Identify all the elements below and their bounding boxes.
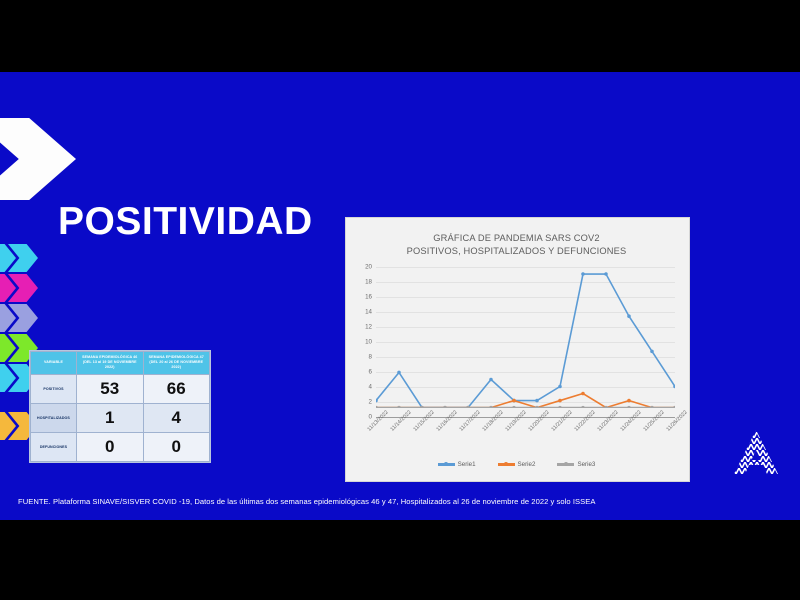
chart-data-point xyxy=(627,399,631,403)
chart-y-tick-label: 14 xyxy=(354,308,372,315)
chart-title-line2: POSITIVOS, HOSPITALIZADOS Y DEFUNCIONES xyxy=(354,245,679,258)
chart-data-point xyxy=(489,406,493,408)
table-body: POSITIVOS5366HOSPITALIZADOS14DEFUNCIONES… xyxy=(31,374,210,461)
large-white-chevron-decor xyxy=(0,118,76,200)
chart-legend-item: Serie1 xyxy=(438,461,476,468)
chart-data-point xyxy=(581,406,585,408)
footer-source-text: FUENTE. Plataforma SINAVE/SISVER COVID -… xyxy=(0,497,595,506)
chevron-decor xyxy=(0,274,44,302)
chevron-decor xyxy=(0,304,44,332)
chart-legend-label: Serie3 xyxy=(577,461,595,468)
chart-legend-swatch xyxy=(498,463,515,465)
chart-y-tick-label: 2 xyxy=(354,398,372,405)
chart-y-tick-label: 12 xyxy=(354,323,372,330)
chart-data-point xyxy=(650,350,654,354)
table-header-week46: SEMANA EPIDEMIOLÓGICA 46 (DEL 13 al 19 D… xyxy=(77,352,144,375)
chart-legend-item: Serie3 xyxy=(557,461,595,468)
chart-data-point xyxy=(650,406,654,408)
chart-data-point xyxy=(558,406,562,408)
chart-legend-label: Serie1 xyxy=(458,461,476,468)
chart-x-axis-labels: 11/13/202211/14/202211/15/202211/16/2022… xyxy=(376,417,675,457)
table-cell-week47: 66 xyxy=(143,374,210,403)
page-title: POSITIVIDAD xyxy=(58,200,313,244)
chart-legend-item: Serie2 xyxy=(498,461,536,468)
chart-data-point xyxy=(489,378,493,382)
chart-data-point xyxy=(535,399,539,403)
chart-legend: Serie1Serie2Serie3 xyxy=(354,461,679,468)
chart-data-point xyxy=(535,406,539,408)
chart-y-tick-label: 18 xyxy=(354,278,372,285)
table-row: POSITIVOS5366 xyxy=(31,374,210,403)
chart-data-point xyxy=(376,406,378,408)
summary-table: VARIABLE SEMANA EPIDEMIOLÓGICA 46 (DEL 1… xyxy=(30,351,210,462)
table-row: HOSPITALIZADOS14 xyxy=(31,403,210,432)
chart-card: GRÁFICA DE PANDEMIA SARS COV2 POSITIVOS,… xyxy=(345,217,690,482)
chart-y-tick-label: 6 xyxy=(354,368,372,375)
chart-data-point xyxy=(558,385,562,389)
table-row-label: DEFUNCIONES xyxy=(31,432,77,461)
chart-legend-swatch xyxy=(438,463,455,465)
chart-y-tick-label: 20 xyxy=(354,263,372,270)
chart-data-point xyxy=(512,399,516,403)
chart-data-point xyxy=(581,392,585,396)
chart-data-point xyxy=(581,272,585,276)
table-header-row: VARIABLE SEMANA EPIDEMIOLÓGICA 46 (DEL 1… xyxy=(31,352,210,375)
chart-data-point xyxy=(443,406,447,408)
chart-data-point xyxy=(397,371,401,375)
chart-data-point xyxy=(512,406,516,408)
table-cell-week47: 0 xyxy=(143,432,210,461)
table-cell-week47: 4 xyxy=(143,403,210,432)
screenshot-stage: POSITIVIDAD VARIABLE SEMANA EPIDEMIOLÓGI… xyxy=(0,0,800,600)
chevron-decor xyxy=(0,244,44,272)
chart-series-svg xyxy=(376,267,675,408)
table-row-label: HOSPITALIZADOS xyxy=(31,403,77,432)
chart-data-point xyxy=(558,399,562,403)
chart-title-line1: GRÁFICA DE PANDEMIA SARS COV2 xyxy=(354,232,679,245)
chart-data-point xyxy=(627,314,631,318)
chart-y-tick-label: 16 xyxy=(354,293,372,300)
chart-legend-label: Serie2 xyxy=(518,461,536,468)
presentation-slide: POSITIVIDAD VARIABLE SEMANA EPIDEMIOLÓGI… xyxy=(0,72,800,520)
chart-y-tick-label: 10 xyxy=(354,338,372,345)
chart-series-line xyxy=(376,274,675,408)
chart-legend-swatch xyxy=(557,463,574,465)
table-header-week47: SEMANA EPIDEMIOLÓGICA 47 (DEL 20 al 26 D… xyxy=(143,352,210,375)
chart-y-tick-label: 4 xyxy=(354,383,372,390)
chart-data-point xyxy=(673,406,675,408)
table-cell-week46: 53 xyxy=(77,374,144,403)
chart-data-point xyxy=(397,406,401,408)
table-row: DEFUNCIONES00 xyxy=(31,432,210,461)
chart-title: GRÁFICA DE PANDEMIA SARS COV2 POSITIVOS,… xyxy=(354,226,679,259)
chart-data-point xyxy=(604,272,608,276)
chart-data-point xyxy=(627,406,631,408)
footer-bar: FUENTE. Plataforma SINAVE/SISVER COVID -… xyxy=(0,482,800,520)
chart-plot-area: 02468101214161820 xyxy=(354,267,679,417)
table-row-label: POSITIVOS xyxy=(31,374,77,403)
chart-y-tick-label: 8 xyxy=(354,353,372,360)
chart-y-tick-label: 0 xyxy=(354,413,372,420)
table-cell-week46: 1 xyxy=(77,403,144,432)
brand-logo-icon xyxy=(730,426,782,478)
table-header-variable: VARIABLE xyxy=(31,352,77,375)
table-cell-week46: 0 xyxy=(77,432,144,461)
